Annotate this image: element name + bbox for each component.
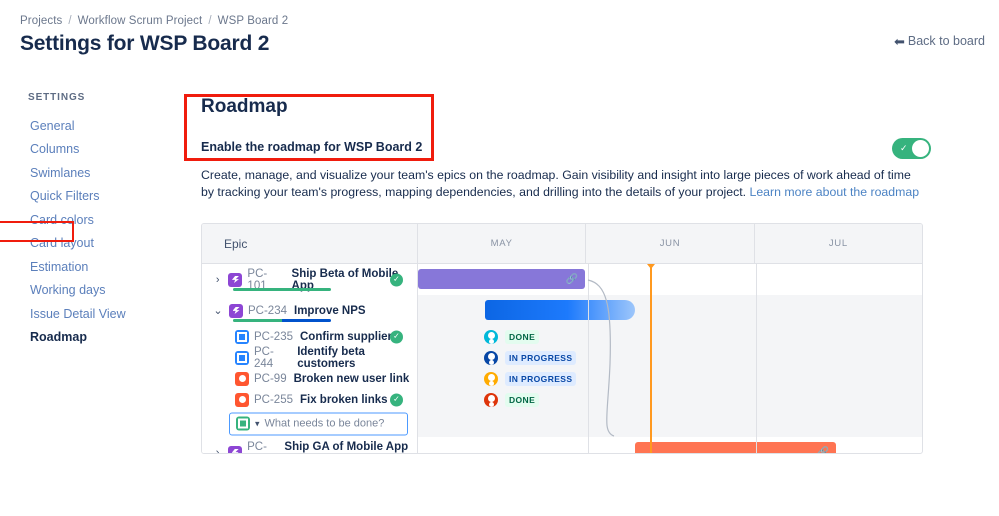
table-row[interactable]: PC-235 Confirm suppliers ✓ DONE xyxy=(202,326,922,347)
roadmap-row-timeline[interactable]: 🔗 xyxy=(418,264,922,295)
roadmap-enable-toggle[interactable]: ✓ xyxy=(892,138,931,159)
sidebar-item-columns[interactable]: Columns xyxy=(28,138,178,162)
link-icon: 🔗 xyxy=(566,274,578,285)
breadcrumb-separator: / xyxy=(68,15,71,27)
breadcrumb-item-projects[interactable]: Projects xyxy=(20,15,62,27)
settings-sidebar: SETTINGS General Columns Swimlanes Quick… xyxy=(28,92,178,349)
epic-icon xyxy=(229,304,243,318)
roadmap-row-timeline[interactable]: 🔗 xyxy=(418,437,922,454)
toggle-knob xyxy=(912,140,929,157)
child-status-line: DONE xyxy=(418,326,922,347)
bug-icon xyxy=(235,393,249,407)
roadmap-row-epic-cell[interactable]: PC-235 Confirm suppliers ✓ xyxy=(202,326,418,347)
story-icon xyxy=(235,330,249,344)
avatar xyxy=(484,330,498,344)
avatar xyxy=(484,372,498,386)
back-to-board-link[interactable]: ⬅ Back to board xyxy=(894,34,985,48)
roadmap-row-epic-cell[interactable]: PC-255 Fix broken links ✓ xyxy=(202,389,418,410)
settings-page: Projects / Workflow Scrum Project / WSP … xyxy=(0,0,999,516)
epic-progress-bar xyxy=(233,288,331,291)
status-badge: IN PROGRESS xyxy=(505,351,576,365)
issue-summary: Ship GA of Mobile App 2.0 xyxy=(284,441,417,455)
check-icon: ✓ xyxy=(900,142,908,155)
section-subtitle: Enable the roadmap for WSP Board 2 xyxy=(201,140,931,154)
learn-more-link[interactable]: Learn more about the roadmap xyxy=(750,185,920,199)
chevron-right-icon[interactable]: › xyxy=(212,447,223,455)
arrow-left-icon: ⬅ xyxy=(894,35,905,48)
roadmap-preview: Epic MAY JUN JUL › PC-101 Ship Beta of M… xyxy=(201,223,923,454)
status-badge: IN PROGRESS xyxy=(505,372,576,386)
roadmap-row-timeline[interactable]: DONE xyxy=(418,389,922,410)
roadmap-body: › PC-101 Ship Beta of Mobile App ✓ 🔗 xyxy=(202,264,922,454)
breadcrumb: Projects / Workflow Scrum Project / WSP … xyxy=(20,15,288,27)
breadcrumb-item-board[interactable]: WSP Board 2 xyxy=(218,15,289,27)
roadmap-row-epic-cell[interactable]: PC-99 Broken new user link xyxy=(202,368,418,389)
avatar xyxy=(484,393,498,407)
status-check-icon: ✓ xyxy=(390,393,403,406)
issue-key: PC-244 xyxy=(254,346,290,370)
issue-summary: Broken new user link xyxy=(294,373,410,385)
child-status-line: IN PROGRESS xyxy=(418,347,922,368)
epic-line: › PC-101 Ship Beta of Mobile App ✓ xyxy=(202,264,417,295)
roadmap-settings-section: Roadmap Enable the roadmap for WSP Board… xyxy=(201,96,931,154)
task-icon[interactable] xyxy=(236,417,250,431)
table-row[interactable]: ⌄ PC-234 Improve NPS xyxy=(202,295,922,326)
status-badge: DONE xyxy=(505,393,539,407)
roadmap-row-timeline[interactable]: IN PROGRESS xyxy=(418,347,922,368)
sidebar-item-card-layout[interactable]: Card layout xyxy=(28,232,178,256)
sidebar-item-card-colors[interactable]: Card colors xyxy=(28,208,178,232)
roadmap-bar-epic-pc-101[interactable]: 🔗 xyxy=(418,269,585,289)
child-line: PC-255 Fix broken links ✓ xyxy=(202,389,417,410)
epic-icon xyxy=(228,446,242,455)
epic-icon xyxy=(228,273,242,287)
issue-summary: Fix broken links xyxy=(300,394,388,406)
breadcrumb-item-project[interactable]: Workflow Scrum Project xyxy=(78,15,203,27)
roadmap-row-epic-cell[interactable]: › PC-56 Ship GA of Mobile App 2.0 xyxy=(202,437,418,454)
sidebar-item-general[interactable]: General xyxy=(28,114,178,138)
roadmap-row-timeline[interactable]: DONE xyxy=(418,326,922,347)
roadmap-row-epic-cell[interactable]: PC-244 Identify beta customers xyxy=(202,347,418,368)
avatar xyxy=(484,351,498,365)
back-to-board-label: Back to board xyxy=(908,34,985,48)
sidebar-item-working-days[interactable]: Working days xyxy=(28,279,178,303)
child-line: PC-244 Identify beta customers xyxy=(202,347,417,368)
roadmap-row-epic-cell[interactable]: › PC-101 Ship Beta of Mobile App ✓ xyxy=(202,264,418,295)
epic-line: › PC-56 Ship GA of Mobile App 2.0 xyxy=(202,437,417,454)
issue-summary: Identify beta customers xyxy=(297,346,417,370)
table-row[interactable]: › PC-56 Ship GA of Mobile App 2.0 🔗 xyxy=(202,437,922,454)
issue-summary: Confirm suppliers xyxy=(300,331,398,343)
roadmap-header-row: Epic MAY JUN JUL xyxy=(202,224,922,264)
chevron-right-icon[interactable]: › xyxy=(212,274,223,286)
roadmap-description: Create, manage, and visualize your team'… xyxy=(201,167,921,201)
sidebar-item-quick-filters[interactable]: Quick Filters xyxy=(28,185,178,209)
chevron-down-icon[interactable]: ▾ xyxy=(255,418,260,429)
issue-summary: Improve NPS xyxy=(294,305,366,317)
child-status-line: IN PROGRESS xyxy=(418,368,922,389)
child-line: PC-99 Broken new user link xyxy=(202,368,417,389)
story-icon xyxy=(235,351,249,365)
roadmap-bar-epic-pc-56[interactable]: 🔗 xyxy=(635,442,836,454)
sidebar-item-roadmap[interactable]: Roadmap xyxy=(28,326,178,350)
epic-progress-bar xyxy=(233,319,331,322)
table-row[interactable]: PC-99 Broken new user link IN PROGRESS xyxy=(202,368,922,389)
status-check-icon: ✓ xyxy=(390,330,403,343)
create-issue-input[interactable]: ▾ What needs to be done? xyxy=(229,412,408,435)
child-line: PC-235 Confirm suppliers ✓ xyxy=(202,326,417,347)
issue-key: PC-99 xyxy=(254,373,287,385)
roadmap-row-timeline[interactable] xyxy=(418,295,922,326)
section-title: Roadmap xyxy=(201,96,931,118)
issue-key: PC-255 xyxy=(254,394,293,406)
epic-line: ⌄ PC-234 Improve NPS xyxy=(202,295,417,326)
table-row-create[interactable]: ▾ What needs to be done? xyxy=(202,410,922,437)
roadmap-row-epic-cell[interactable]: ⌄ PC-234 Improve NPS xyxy=(202,295,418,326)
roadmap-bar-epic-pc-234[interactable] xyxy=(485,300,635,320)
roadmap-month-jul: JUL xyxy=(755,224,922,263)
roadmap-row-timeline xyxy=(418,410,922,437)
issue-key: PC-235 xyxy=(254,331,293,343)
child-status-line: DONE xyxy=(418,389,922,410)
roadmap-row-timeline[interactable]: IN PROGRESS xyxy=(418,368,922,389)
page-title: Settings for WSP Board 2 xyxy=(20,32,269,56)
issue-key: PC-56 xyxy=(247,441,277,455)
sidebar-item-swimlanes[interactable]: Swimlanes xyxy=(28,161,178,185)
chevron-down-icon[interactable]: ⌄ xyxy=(212,304,224,317)
breadcrumb-separator: / xyxy=(208,15,211,27)
table-row[interactable]: PC-244 Identify beta customers IN PROGRE… xyxy=(202,347,922,368)
create-issue-placeholder: What needs to be done? xyxy=(265,418,385,430)
table-row[interactable]: PC-255 Fix broken links ✓ DONE xyxy=(202,389,922,410)
link-icon: 🔗 xyxy=(817,447,829,455)
roadmap-month-jun: JUN xyxy=(586,224,754,263)
sidebar-heading: SETTINGS xyxy=(28,92,178,103)
status-check-icon: ✓ xyxy=(390,273,403,286)
table-row[interactable]: › PC-101 Ship Beta of Mobile App ✓ 🔗 xyxy=(202,264,922,295)
status-badge: DONE xyxy=(505,330,539,344)
roadmap-month-may: MAY xyxy=(418,224,586,263)
roadmap-epic-column-header: Epic xyxy=(202,224,418,263)
issue-key: PC-234 xyxy=(248,305,287,317)
roadmap-row-epic-cell[interactable]: ▾ What needs to be done? xyxy=(202,410,418,437)
sidebar-item-estimation[interactable]: Estimation xyxy=(28,255,178,279)
sidebar-item-issue-detail-view[interactable]: Issue Detail View xyxy=(28,302,178,326)
bug-icon xyxy=(235,372,249,386)
